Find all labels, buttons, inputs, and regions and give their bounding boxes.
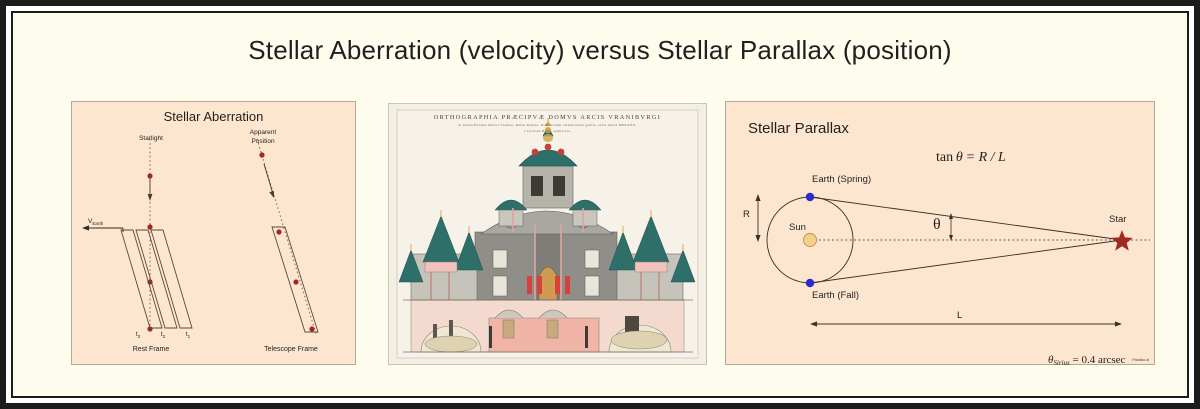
aberration-diagram: [72, 102, 355, 364]
time-label-t2: t2: [151, 331, 175, 340]
formula-theta: θ: [956, 150, 963, 165]
time-label-sub: 2: [163, 334, 166, 339]
velocity-label: VEarth: [88, 218, 128, 227]
central-tower: [523, 166, 573, 208]
earth-spring-label: Earth (Spring): [812, 174, 871, 185]
slide-outer-border: Stellar Aberration (velocity) versus Ste…: [0, 0, 1200, 409]
star-marker: [1111, 230, 1133, 251]
parallax-credit: Parallax.ai: [1132, 358, 1149, 362]
photon-dot: [259, 152, 264, 157]
earth-fall-label: Earth (Fall): [812, 290, 859, 301]
sun-marker: [804, 234, 817, 247]
sirius-parallax-annotation: θSirius = 0.4 arcsec: [1048, 354, 1125, 367]
engraving-subtitle-line2: a Tychone Brahe aedificata.: [389, 129, 706, 133]
photon-dot: [147, 224, 152, 229]
formula-tan: tan: [936, 150, 953, 165]
page-title: Stellar Aberration (velocity) versus Ste…: [13, 35, 1187, 66]
formula-equals-rl: = R / L: [966, 150, 1006, 165]
telescope-tube: [121, 230, 162, 328]
earth-spring-marker: [806, 193, 814, 201]
time-label-t1: t1: [176, 331, 200, 340]
stellar-parallax-panel: Stellar Parallax: [725, 101, 1155, 365]
earth-fall-marker: [806, 279, 814, 287]
apparent-position-label-line2: Position: [232, 138, 294, 147]
star-label: Star: [1109, 214, 1126, 225]
starlight-label: Starlight: [120, 135, 182, 144]
stellar-aberration-panel: Stellar Aberration: [71, 101, 356, 365]
sun-label: Sun: [789, 222, 806, 233]
velocity-label-subscript: Earth: [92, 221, 103, 226]
distance-arrow-head-left: [810, 321, 817, 326]
time-label-sub: 3: [138, 334, 141, 339]
photon-dot: [276, 229, 281, 234]
radius-label: R: [743, 209, 750, 220]
tower-window: [531, 176, 543, 196]
tangent-formula: tan θ = R / L: [936, 150, 1006, 166]
theta-label: θ: [933, 216, 941, 234]
telescope-tube-group-rest: [121, 230, 192, 328]
photon-dot: [293, 279, 298, 284]
sirius-subscript: Sirius: [1053, 359, 1069, 367]
telescope-tube: [151, 230, 192, 328]
uraniborg-engraving: ORTHOGRAPHIA PRÆCIPVÆ DOMVS ARCIS VRANIB…: [388, 103, 707, 365]
photon-dot: [147, 173, 152, 178]
apparent-arrow-head: [269, 191, 274, 198]
rest-frame-label: Rest Frame: [108, 346, 194, 353]
sirius-value: = 0.4 arcsec: [1073, 354, 1126, 366]
apparent-arrow-shaft: [264, 164, 273, 194]
distance-arrow-head-right: [1115, 321, 1122, 326]
slide-canvas: Stellar Aberration (velocity) versus Ste…: [11, 11, 1189, 398]
radius-arrow-head-top: [755, 194, 760, 201]
tower-window: [553, 176, 565, 196]
starlight-arrow-head: [148, 194, 153, 201]
distance-label: L: [957, 310, 962, 321]
apparent-ray: [257, 139, 316, 334]
engraving-title: ORTHOGRAPHIA PRÆCIPVÆ DOMVS ARCIS VRANIB…: [389, 114, 706, 121]
telescope-frame-label: Telescope Frame: [242, 346, 340, 353]
telescope-tube: [136, 230, 177, 328]
photon-dot: [309, 326, 314, 331]
sightline-fall: [810, 240, 1122, 283]
engraving-artwork: [389, 104, 706, 364]
engraving-subtitle-line1: in Infula Hvenna Danici Vraniae, Rufus D…: [389, 123, 706, 127]
title-emblem: [543, 134, 553, 142]
time-label-t3: t3: [126, 331, 150, 340]
sightline-spring: [810, 197, 1122, 240]
apparent-position-label-line1: Apparent: [232, 129, 294, 138]
radius-arrow-head-bottom: [755, 235, 760, 242]
time-label-sub: 1: [188, 334, 191, 339]
